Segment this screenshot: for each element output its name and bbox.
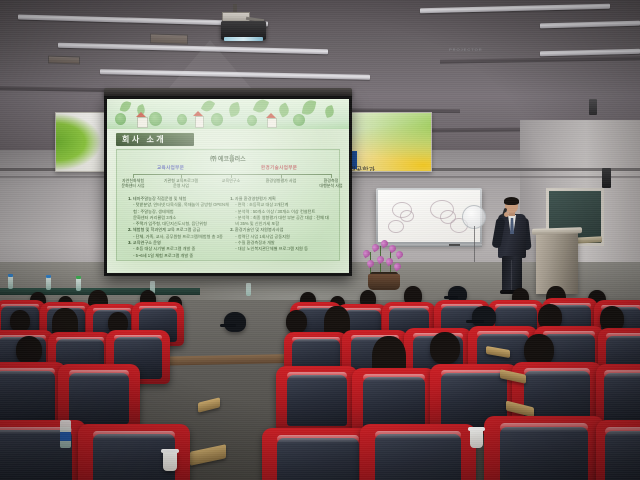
tree-icon	[247, 115, 257, 126]
house-icon	[137, 117, 148, 128]
presenter-hair	[504, 197, 519, 205]
slide-sub-item: - 5~6세 1일 체험 프로그램 개발 중	[128, 253, 230, 259]
paper-cup	[163, 452, 177, 471]
projection-screen-frame: 회사 소개 ㈜ 에코플러스 교육사업부문 환경기술사업부문 자연친화체험문화센터…	[104, 96, 352, 276]
bottle-label	[60, 432, 71, 441]
seat	[262, 428, 374, 480]
seat	[484, 416, 604, 480]
projection-screen: 회사 소개 ㈜ 에코플러스 교육사업부문 환경기술사업부문 자연친화체험문화센터…	[107, 99, 349, 273]
orchid-flower	[376, 255, 386, 265]
audience-head-with-cap	[472, 306, 496, 328]
podium	[536, 232, 578, 294]
seat	[0, 362, 66, 428]
water-bottle	[76, 278, 81, 291]
orchid-flower	[395, 250, 405, 260]
org-chart: 교육사업부문 환경기술사업부문 자연친화체험문화센터 사업 기관형 교육프로그램…	[123, 165, 333, 191]
orchid-flower	[366, 259, 376, 269]
org-group-right-label: 환경기술사업부문	[261, 165, 297, 171]
org-root-label: ㈜ 에코플러스	[117, 154, 339, 163]
slide-body: ㈜ 에코플러스 교육사업부문 환경기술사업부문 자연친화체험문화센터 사업 기관…	[116, 149, 340, 261]
ceiling-light-strip	[540, 21, 640, 29]
seat	[596, 420, 640, 480]
presenter	[492, 198, 532, 294]
org-leaf-4: 환경측정대행분석 사업	[309, 178, 349, 189]
org-connector	[133, 174, 331, 175]
house-icon	[195, 116, 204, 128]
presenter-trousers	[502, 256, 522, 292]
paper-cup	[470, 430, 483, 448]
slide-left-column: 1. 테마주말농장 직접운영 및 체험- 텃밭분양, 인터넷 다육식물, 목재놀…	[128, 196, 230, 259]
water-bottle	[46, 277, 51, 290]
house-roof-icon	[136, 112, 146, 117]
org-group-left-label: 교육사업부문	[157, 165, 184, 171]
tree-icon	[115, 113, 126, 125]
presenter-leg-split	[511, 260, 512, 290]
audience-head	[286, 310, 307, 333]
ivy-leaf-icon	[277, 102, 291, 117]
orchid-flower	[371, 243, 381, 253]
slide-sub-item: - 분석력 : 최종 영향평가 대한 부분 공간 대상 : 전체 대비 35% …	[230, 215, 332, 228]
bottle-cap	[8, 274, 13, 277]
tree-icon	[293, 114, 305, 126]
wall-speaker-icon	[602, 168, 611, 188]
org-leaf-3: 환경영향평가 사업	[259, 178, 303, 183]
slide-right-column: 1. 자율 환경영향평가 계획- 면적 : 초등학교 대상 2개단계- 분석력 …	[230, 196, 332, 253]
whiteboard-scribble	[388, 220, 404, 233]
ivy-leaf-icon	[302, 99, 317, 116]
ivy-leaf-icon	[324, 105, 336, 118]
slide-title: 회사 소개	[122, 134, 166, 145]
seat	[360, 424, 476, 480]
org-connector	[231, 154, 232, 163]
seminar-room-photo: PROJECTOR 200 우수취업 일시 2009. 수회 강전학토론 학교 …	[0, 0, 640, 480]
tree-icon	[177, 114, 187, 125]
house-roof-icon	[193, 111, 203, 116]
projector-label: PROJECTOR	[449, 47, 483, 52]
ivy-leaf-icon	[228, 102, 242, 117]
cap-brim	[444, 296, 458, 299]
slide-decoration-band	[107, 99, 349, 129]
bottle-cap	[46, 275, 51, 278]
org-leaf-1: 기관형 교육프로그램운영 사업	[159, 178, 203, 189]
ceiling-light-strip	[420, 4, 610, 14]
tree-icon	[211, 113, 223, 126]
bottle-cap	[76, 276, 81, 279]
seat	[276, 366, 358, 432]
audience-head	[10, 310, 30, 332]
seat	[0, 420, 86, 480]
cap-brim	[466, 320, 484, 323]
org-leaf-2: 교육연구소	[209, 178, 253, 183]
house-icon	[267, 118, 277, 128]
ceiling-light-strip	[540, 49, 640, 56]
slide-sub-item: - 대상 노인복지관단체별 프로그램 지원 등	[230, 246, 332, 252]
audience-head	[16, 336, 42, 364]
plant-pot	[368, 274, 400, 290]
ceiling-vent	[48, 55, 80, 64]
slide-sub-item: - 텃밭분양, 인터넷 다육식물, 목재놀이 공방형 OPEN체험 : 주말농장…	[128, 202, 230, 215]
ivy-leaf-icon	[120, 100, 132, 113]
tree-icon	[149, 112, 162, 126]
house-roof-icon	[266, 113, 276, 118]
water-bottle	[246, 283, 251, 296]
cap-brim	[220, 324, 236, 327]
audience-head-with-cap	[224, 312, 246, 332]
orchid-flower	[393, 262, 403, 272]
water-bottle	[8, 276, 13, 289]
banner-leaf-graphic	[56, 113, 102, 171]
presenter-hand	[504, 212, 509, 217]
org-leaf-0: 자연친화체험문화센터 사업	[111, 178, 155, 189]
whiteboard-scribble	[400, 210, 414, 222]
ceiling-slot	[440, 56, 640, 63]
wall-speaker-icon	[589, 99, 597, 115]
whiteboard-marker	[449, 244, 460, 246]
audience-head	[430, 332, 460, 364]
